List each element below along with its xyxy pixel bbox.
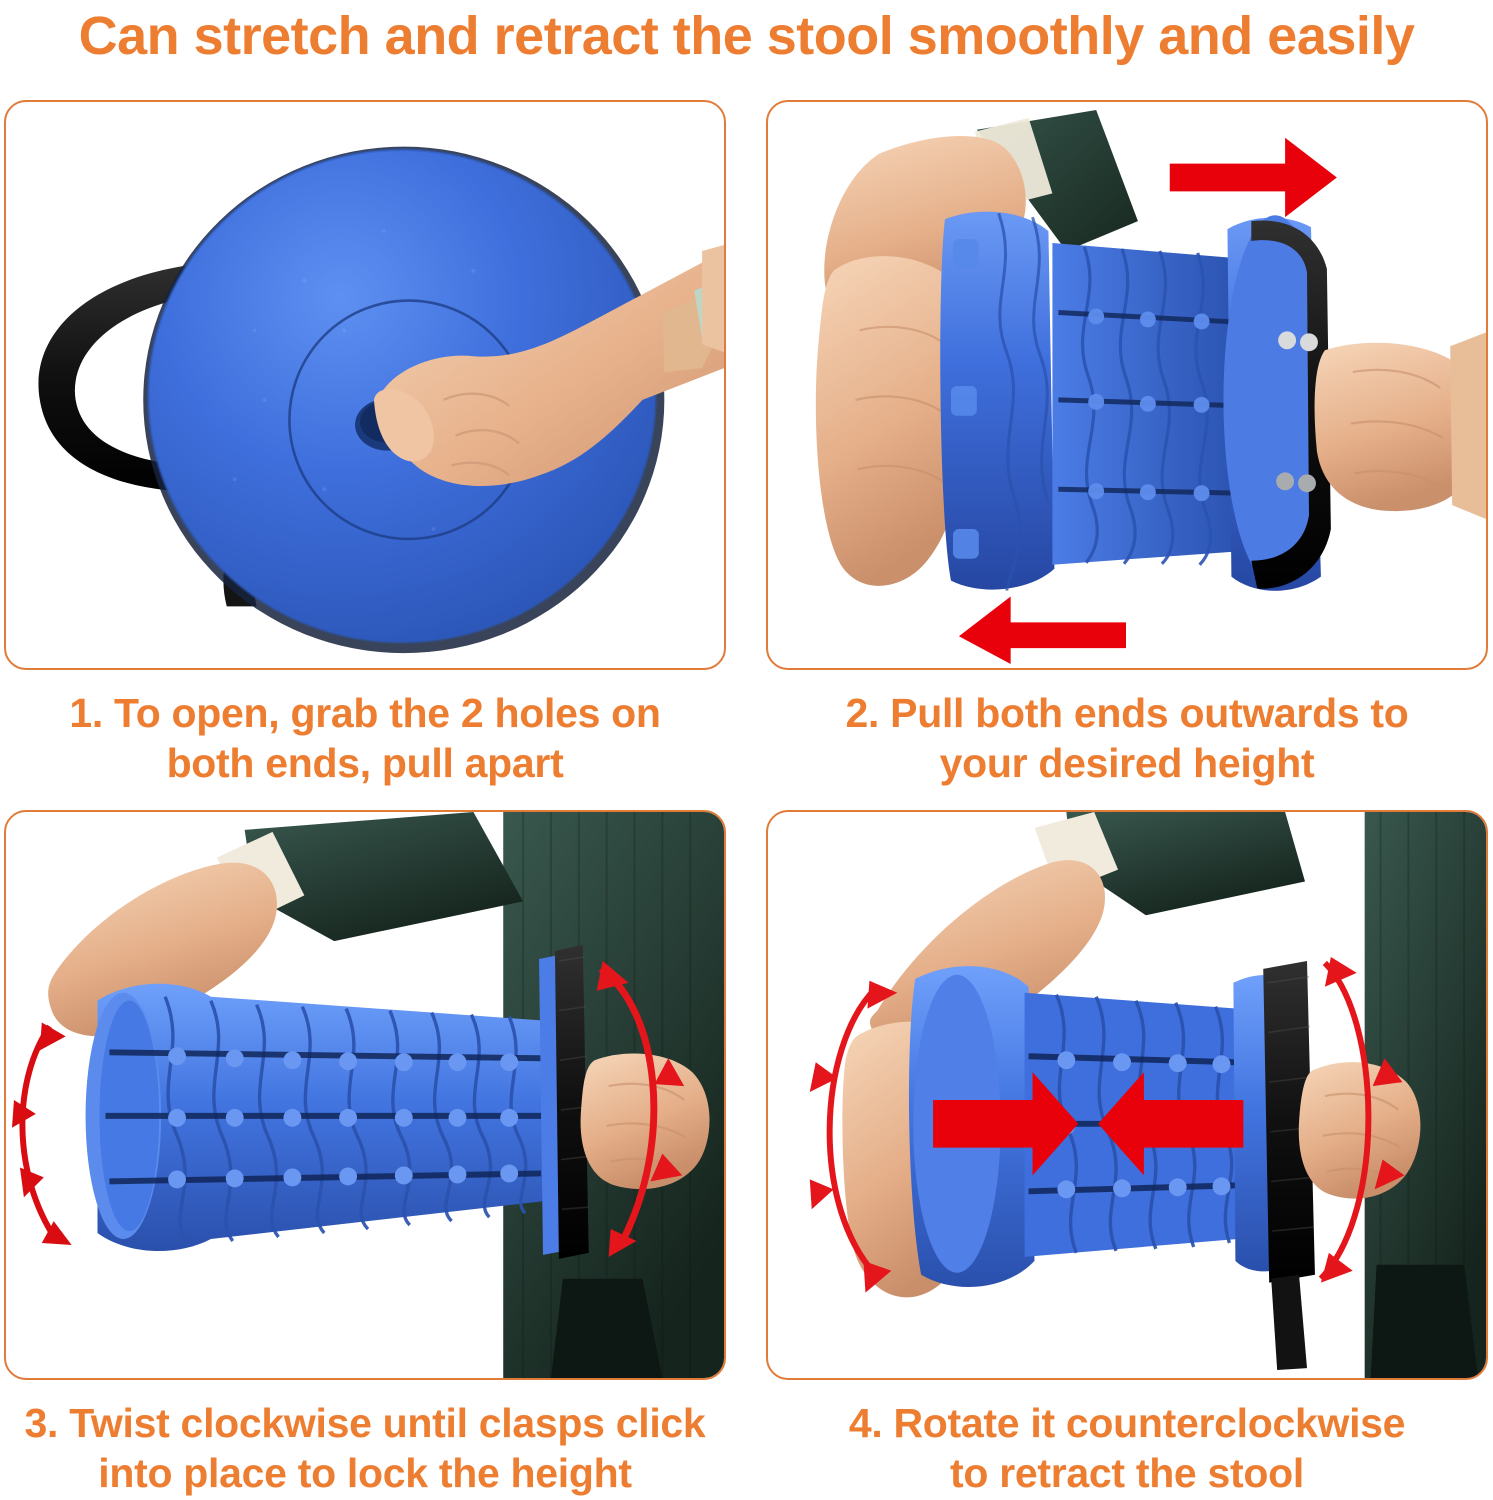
step-1-image — [6, 102, 724, 668]
step-2-caption-line-2: your desired height — [772, 738, 1482, 788]
step-3-image — [6, 812, 724, 1378]
step-4-image — [768, 812, 1486, 1378]
strap-tail — [1271, 1275, 1307, 1370]
arrow-left-icon — [959, 597, 1126, 665]
stool-barrel — [1052, 243, 1245, 565]
step-3-caption-line-2: into place to lock the height — [10, 1448, 720, 1498]
step-4-caption-line-1: 4. Rotate it counterclockwise — [772, 1398, 1482, 1448]
retracting-stool-illustration — [768, 812, 1486, 1378]
collapsed-disc-illustration — [6, 102, 724, 668]
page-title: Can stretch and retract the stool smooth… — [0, 4, 1493, 68]
fully-extended-stool-illustration — [6, 812, 724, 1378]
step-1-caption: 1. To open, grab the 2 holes on both end… — [10, 688, 720, 788]
step-1-caption-line-2: both ends, pull apart — [10, 738, 720, 788]
step-4-panel — [766, 810, 1488, 1380]
step-2-panel — [766, 100, 1488, 670]
infographic-page: Can stretch and retract the stool smooth… — [0, 0, 1493, 1500]
step-2-image — [768, 102, 1486, 668]
partially-extended-stool-illustration — [768, 102, 1486, 668]
step-4-caption: 4. Rotate it counterclockwise to retract… — [772, 1398, 1482, 1498]
step-4-caption-line-2: to retract the stool — [772, 1448, 1482, 1498]
step-3-panel — [4, 810, 726, 1380]
step-2-caption-line-1: 2. Pull both ends outwards to — [772, 688, 1482, 738]
arrow-right-icon — [1170, 138, 1337, 217]
step-2-caption: 2. Pull both ends outwards to your desir… — [772, 688, 1482, 788]
step-3-caption-line-1: 3. Twist clockwise until clasps click — [10, 1398, 720, 1448]
rotate-arrow-left-icon — [22, 1026, 51, 1233]
right-hand-4 — [1299, 1062, 1421, 1199]
extended-stool-barrel — [86, 984, 543, 1251]
step-1-panel — [4, 100, 726, 670]
step-1-caption-line-1: 1. To open, grab the 2 holes on — [10, 688, 720, 738]
step-3-caption: 3. Twist clockwise until clasps click in… — [10, 1398, 720, 1498]
